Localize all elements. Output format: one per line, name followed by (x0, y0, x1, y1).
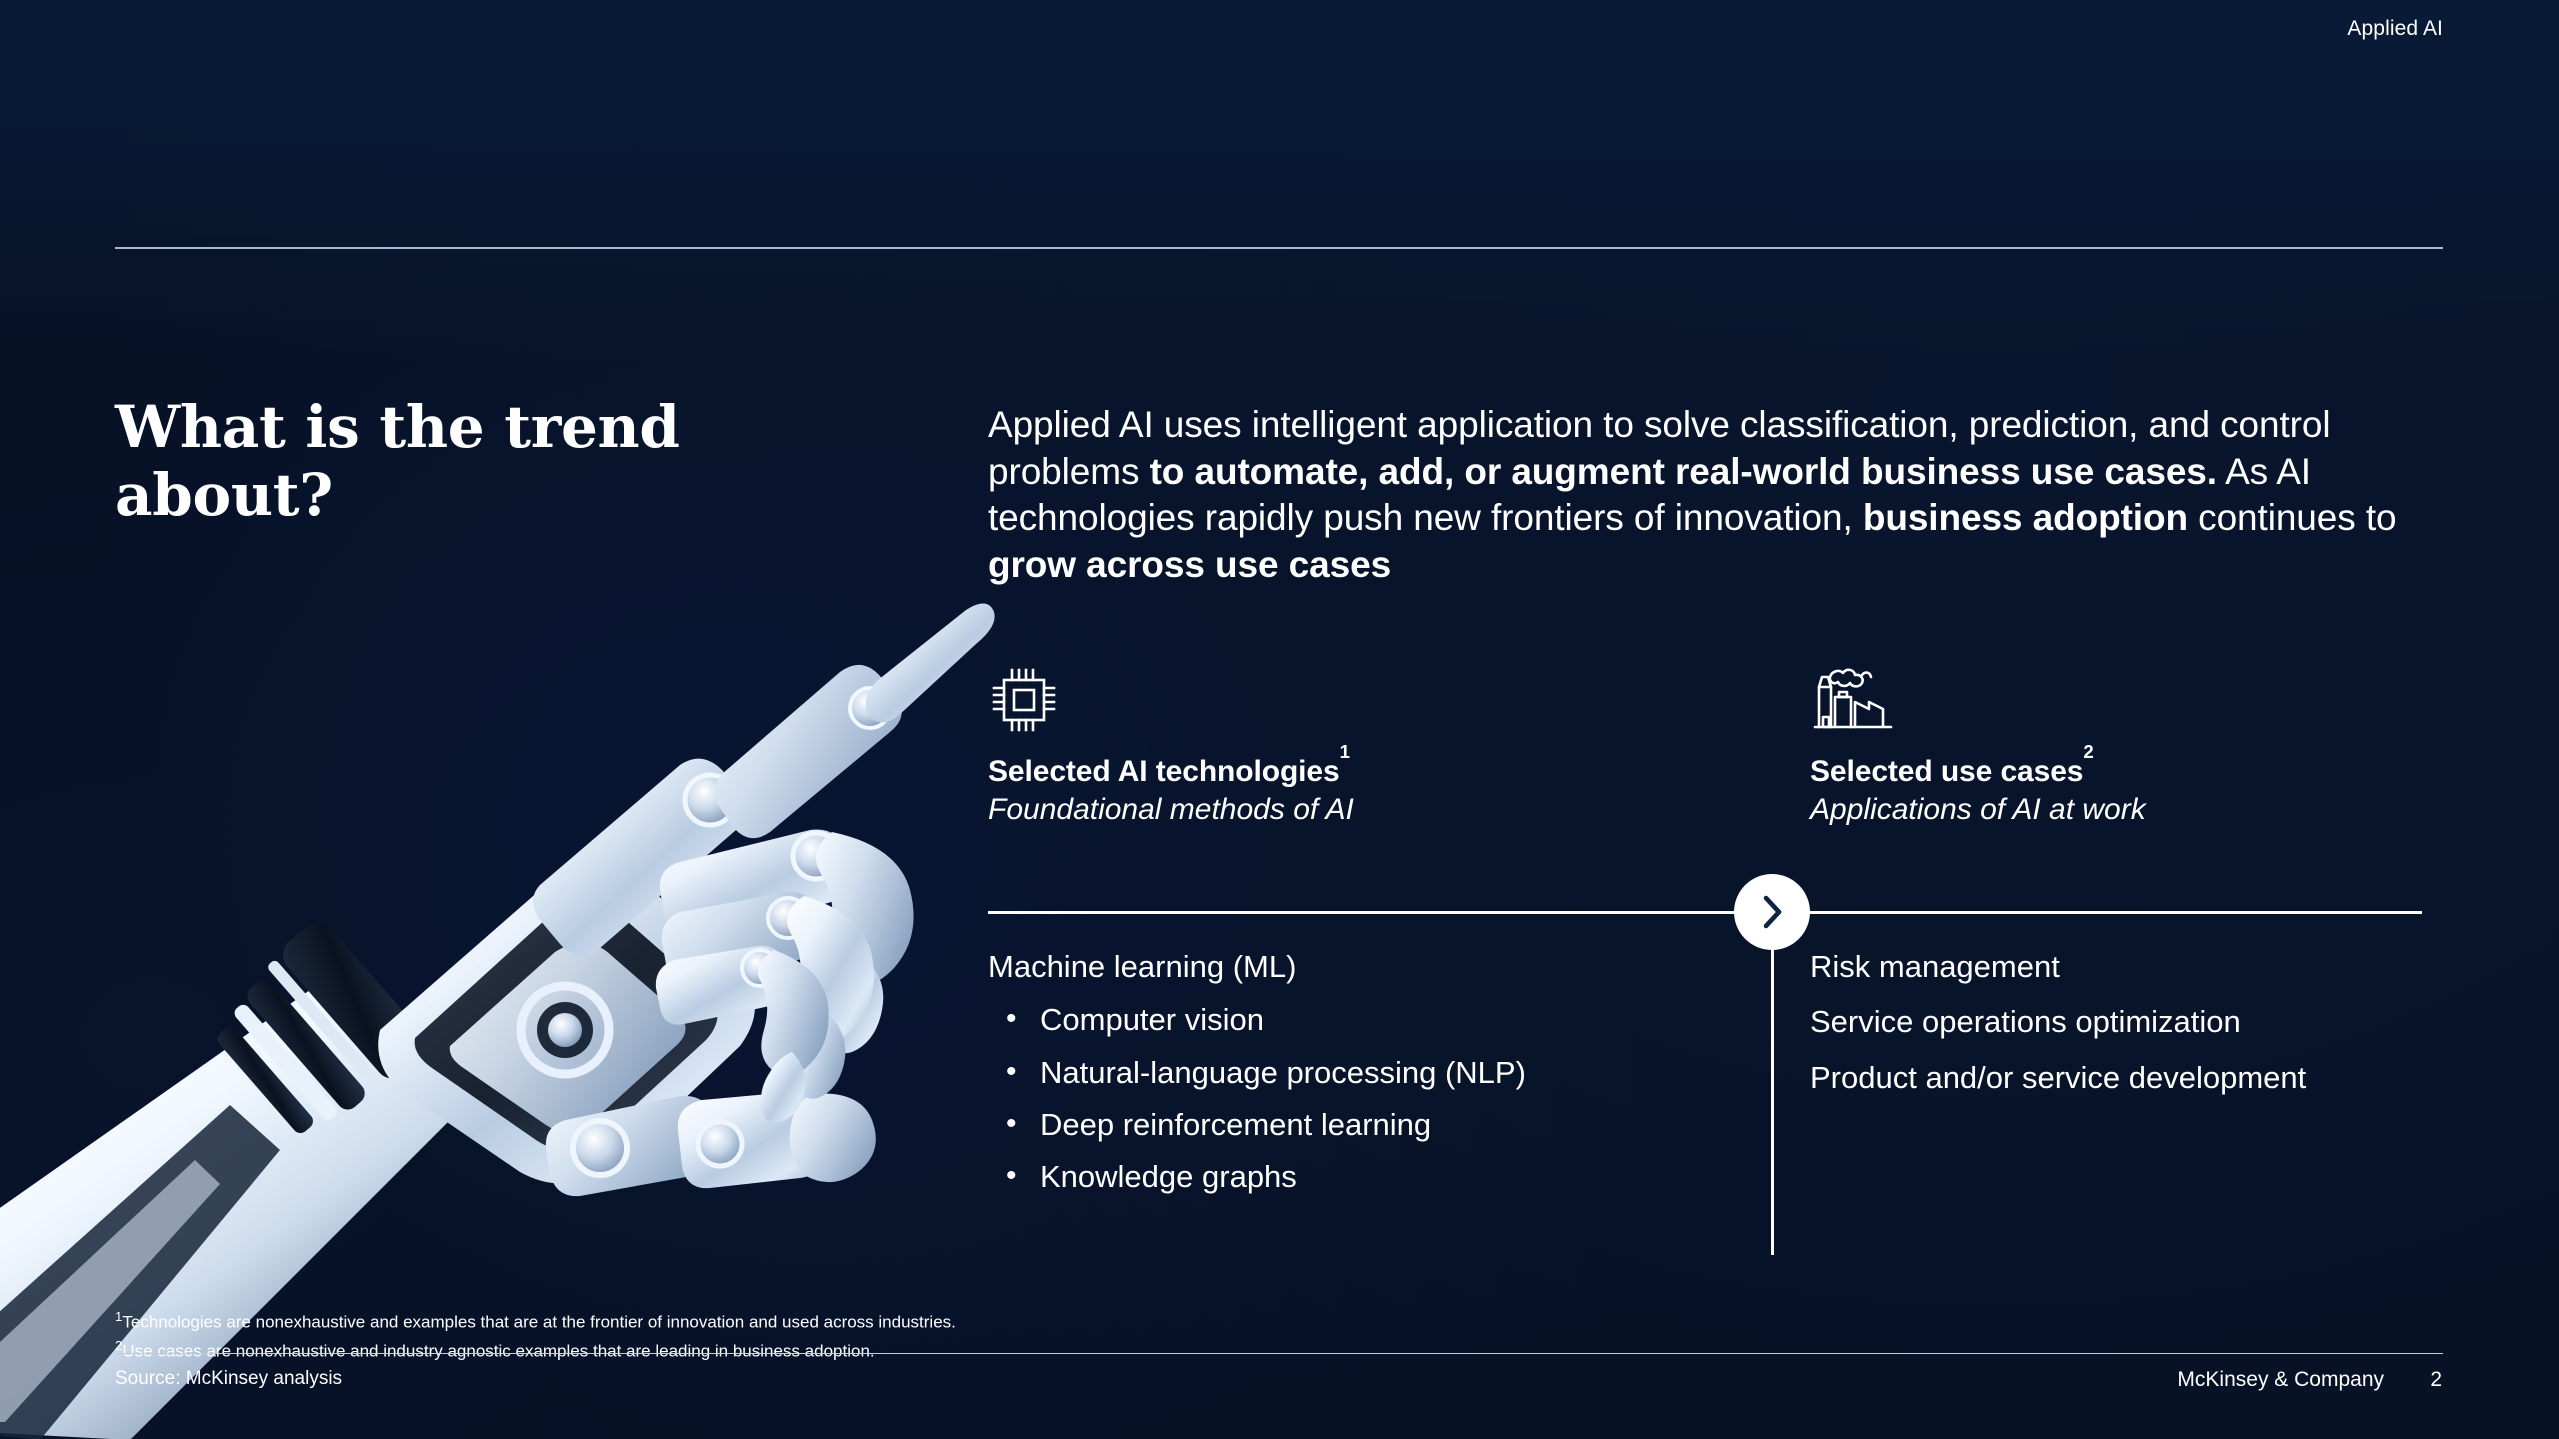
page-number-label: 2 (2430, 1368, 2442, 1392)
column-vertical-divider (1771, 912, 1774, 1255)
footnote-2: 2Use cases are nonexhaustive and industr… (115, 1336, 956, 1365)
list-item: Natural-language processing (NLP) (988, 1053, 1526, 1093)
footer-divider (115, 1353, 2443, 1354)
footnote-text-1: Technologies are nonexhaustive and examp… (122, 1313, 956, 1332)
lede-bold-2: business adoption (1863, 497, 2188, 538)
page-title: What is the trend about? (115, 394, 815, 530)
chevron-right-icon[interactable] (1734, 874, 1810, 950)
footnote-text-2: Use cases are nonexhaustive and industry… (122, 1342, 874, 1361)
column-title-use-cases: Selected use cases2 (1810, 753, 2443, 789)
lede-bold-1: to automate, add, or augment real-world … (1150, 451, 2217, 492)
factory-icon (1810, 665, 2443, 735)
list-ai-technologies: Machine learning (ML) Computer vision Na… (988, 947, 1526, 1209)
list-item: Deep reinforcement learning (988, 1105, 1526, 1145)
column-title-text: Selected use cases (1810, 755, 2083, 788)
list-item: Computer vision (988, 1000, 1526, 1040)
brand-label: McKinsey & Company (2177, 1368, 2384, 1392)
lede-text-3: continues to (2188, 497, 2397, 538)
source-label: Source: McKinsey analysis (115, 1368, 342, 1390)
slide-background-top-shade (0, 0, 2559, 360)
list-item: Service operations optimization (1810, 1002, 2306, 1042)
list-item: Machine learning (ML) (988, 947, 1526, 987)
column-title-ai-technologies: Selected AI technologies1 (988, 753, 1678, 789)
column-subtitle-ai-technologies: Foundational methods of AI (988, 792, 1678, 828)
lede-bold-3: grow across use cases (988, 544, 1391, 585)
column-title-footnote-marker: 1 (1340, 741, 1350, 762)
column-subtitle-use-cases: Applications of AI at work (1810, 792, 2443, 828)
footnote-1: 1Technologies are nonexhaustive and exam… (115, 1307, 956, 1336)
column-use-cases: Selected use cases2 Applications of AI a… (1810, 665, 2443, 828)
column-header-divider (988, 911, 2422, 914)
lede-block: Applied AI uses intelligent application … (988, 365, 2443, 625)
column-title-text: Selected AI technologies (988, 755, 1340, 788)
list-item: Knowledge graphs (988, 1157, 1526, 1197)
slide: Applied AI What is the trend about? Appl… (0, 0, 2559, 1439)
footnotes: 1Technologies are nonexhaustive and exam… (115, 1307, 956, 1365)
column-title-footnote-marker: 2 (2083, 741, 2093, 762)
slide-eyebrow-label: Applied AI (2347, 17, 2443, 41)
two-column-panel: Selected AI technologies1 Foundational m… (988, 665, 2443, 1285)
list-use-cases: Risk management Service operations optim… (1810, 947, 2306, 1113)
chip-icon (988, 665, 1678, 735)
lede-paragraph: Applied AI uses intelligent application … (988, 402, 2443, 588)
list-item: Product and/or service development (1810, 1058, 2306, 1098)
list-item: Risk management (1810, 947, 2306, 987)
header-divider (115, 247, 2443, 249)
column-ai-technologies: Selected AI technologies1 Foundational m… (988, 665, 1678, 828)
